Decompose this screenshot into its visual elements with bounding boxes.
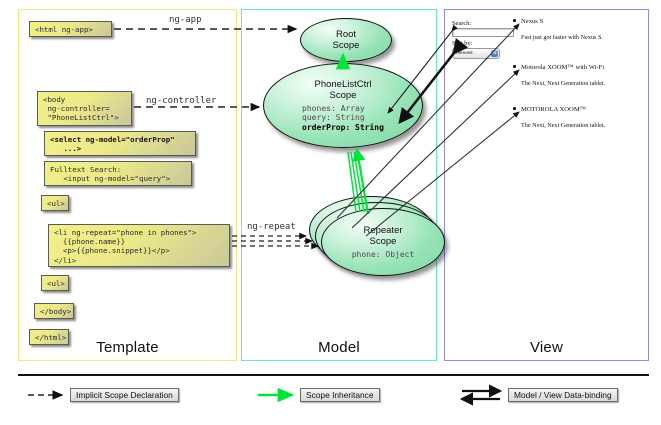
scope-root: Root Scope — [300, 18, 392, 62]
code-box-ul-close-tag: <ul> — [41, 275, 69, 291]
view-sort-label: Sort by: — [452, 40, 472, 47]
view-phone-name-2: MOTOROLA XOOM™ — [521, 106, 586, 113]
panel-model-label: Model — [242, 339, 436, 356]
list-bullet-icon — [513, 19, 516, 22]
view-phone-snippet-2: The Next, Next Generation tablet. — [521, 122, 605, 129]
code-box-input-tag: Fulltext Search: <input ng-model="query"… — [44, 161, 192, 186]
scope-phonelistctrl: PhoneListCtrl Scope phones: Array query:… — [263, 63, 423, 148]
legend-item-implicit-scope-declaration: Implicit Scope Declaration — [70, 388, 179, 402]
view-sort-selected-value: Newest — [456, 50, 473, 56]
scope-repeater-title-line1: Repeater — [363, 225, 402, 236]
view-phone-name-1: Motorola XOOM™ with Wi-Fi — [521, 64, 604, 71]
edge-label-ng-app: ng-app — [169, 15, 202, 25]
chevron-updown-icon: ⇅ — [491, 50, 498, 57]
scope-prop-phone: phone: Object — [352, 250, 415, 259]
scope-root-title-line1: Root — [336, 29, 356, 40]
code-box-ul-open-tag: <ul> — [41, 195, 69, 211]
view-phone-snippet-1: The Next, Next Generation tablet. — [521, 80, 605, 87]
scope-prop-orderprop: orderProp: String — [302, 123, 384, 132]
code-box-li-repeat-tag: <li ng-repeat="phone in phones"> {{phone… — [48, 224, 230, 267]
scope-prop-query: query: String — [302, 113, 384, 122]
panel-view-label: View — [445, 339, 648, 356]
code-box-body-close-tag: </body> — [34, 303, 74, 319]
code-box-html-close-tag: </html> — [29, 329, 69, 345]
legend-item-scope-inheritance: Scope Inheritance — [300, 388, 380, 402]
list-bullet-icon — [513, 107, 516, 110]
scope-root-title-line2: Scope — [333, 40, 360, 51]
scope-prop-phones: phones: Array — [302, 104, 384, 113]
view-phone-name-0: Nexus S — [521, 18, 543, 25]
scope-repeater-title-line2: Scope — [370, 236, 397, 247]
edge-label-ng-repeat: ng-repeat — [247, 222, 296, 232]
scope-phonelistctrl-title-line2: Scope — [330, 90, 357, 101]
code-box-html-tag: <html ng-app> — [29, 21, 112, 37]
list-bullet-icon — [513, 65, 516, 68]
edge-label-ng-controller: ng-controller — [146, 96, 216, 106]
scope-repeater: Repeater Scope phone: Object — [321, 208, 445, 276]
legend-glyph-data-binding — [462, 391, 500, 399]
legend-divider — [18, 374, 649, 376]
code-box-body-tag: <body ng-controller= "PhoneListCtrl"> — [37, 91, 132, 126]
view-phone-snippet-0: Fast just got faster with Nexus S. — [521, 34, 603, 41]
view-search-label: Search: — [452, 20, 471, 27]
scope-phonelistctrl-title-line1: PhoneListCtrl — [314, 79, 371, 90]
view-sort-select[interactable]: Newest ⇅ — [452, 48, 500, 59]
view-search-input[interactable] — [452, 28, 514, 37]
legend-item-model-view-data-binding: Model / View Data-binding — [508, 388, 618, 402]
code-box-select-tag: <select ng-model="orderProp" ...> — [44, 131, 196, 156]
diagram-canvas: Template Model View <html ng-app> <body … — [0, 0, 661, 425]
panel-view: View — [444, 9, 649, 361]
